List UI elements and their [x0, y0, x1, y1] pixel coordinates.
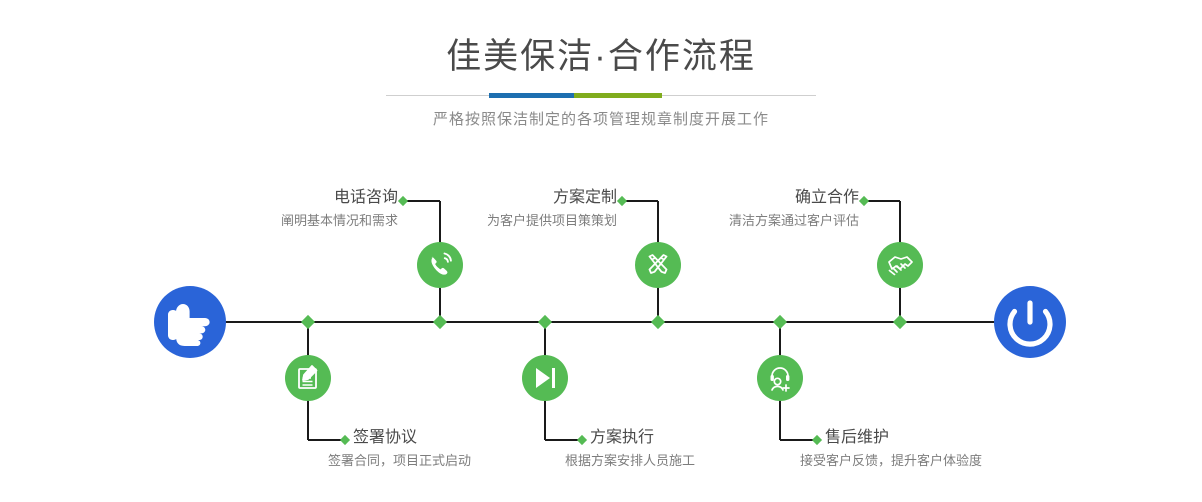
step-node-4[interactable]: [522, 355, 568, 401]
step-node-2[interactable]: [285, 355, 331, 401]
step-label-4: 方案执行 根据方案安排人员施工: [590, 428, 695, 470]
step-title-5: 确立合作: [440, 188, 859, 208]
spine-diamond-step-6: [773, 315, 787, 329]
spine-diamond-step-3: [651, 315, 665, 329]
spine-diamond-step-2: [301, 315, 315, 329]
spine-diamond-step-4: [538, 315, 552, 329]
spine-diamond-step-1: [433, 315, 447, 329]
end-node[interactable]: [994, 286, 1066, 358]
step-desc-5: 清洁方案通过客户评估: [440, 211, 859, 230]
process-flow-diagram: 电话咨询 阐明基本情况和需求 方案定制 为客户提供项目策策划 确立合作 清洁方案…: [0, 0, 1202, 502]
step-node-3[interactable]: [635, 242, 681, 288]
step-desc-2: 签署合同，项目正式启动: [328, 451, 471, 470]
step-node-5[interactable]: [877, 242, 923, 288]
step-title-4: 方案执行: [590, 428, 695, 448]
step-desc-4: 根据方案安排人员施工: [565, 451, 695, 470]
step-label-6: 售后维护 接受客户反馈，提升客户体验度: [825, 428, 982, 470]
step-label-5: 确立合作 清洁方案通过客户评估: [440, 188, 859, 230]
start-node[interactable]: [154, 286, 226, 358]
spine-diamond-step-5: [893, 315, 907, 329]
step-node-1[interactable]: [417, 242, 463, 288]
step-label-2: 签署协议 签署合同，项目正式启动: [353, 428, 471, 470]
cooperation-process-infographic: 佳美保洁·合作流程 严格按照保洁制定的各项管理规章制度开展工作: [0, 0, 1202, 502]
step-node-6[interactable]: [757, 355, 803, 401]
step-desc-6: 接受客户反馈，提升客户体验度: [800, 451, 982, 470]
step-title-6: 售后维护: [825, 428, 982, 448]
step-title-2: 签署协议: [353, 428, 471, 448]
